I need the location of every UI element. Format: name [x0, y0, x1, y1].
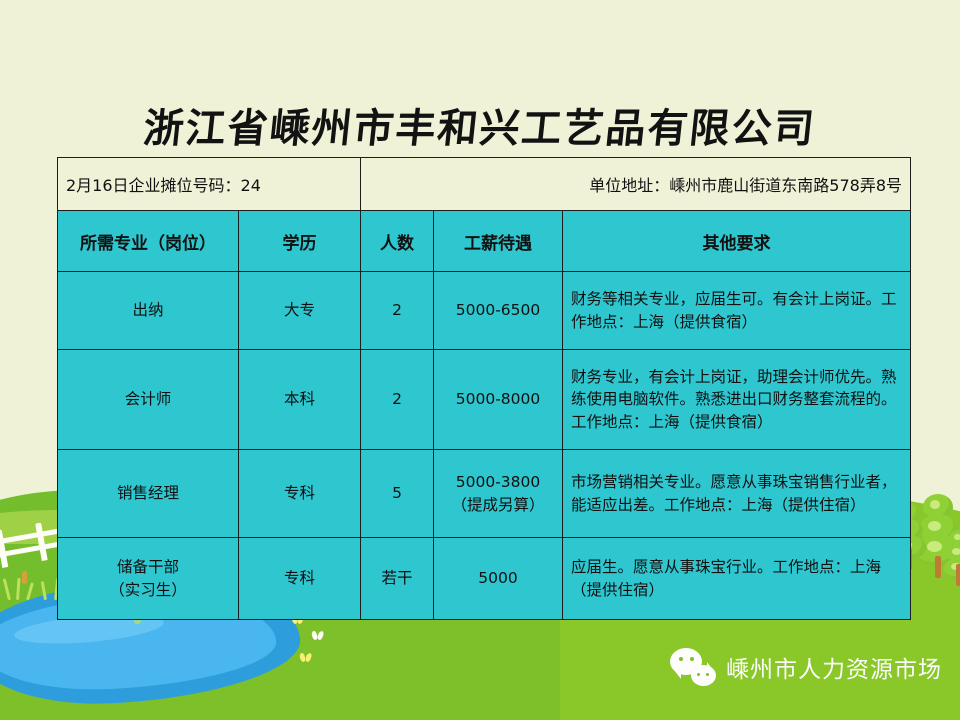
job-listing-table: 2月16日企业摊位号码：24 单位地址：嵊州市鹿山街道东南路578弄8号 所需专… — [57, 157, 911, 620]
page-title: 浙江省嵊州市丰和兴工艺品有限公司 — [0, 96, 960, 154]
cell-other: 财务专业，有会计上岗证，助理会计师优先。熟练使用电脑软件。熟悉进出口财务整套流程… — [563, 350, 911, 450]
cell-major: 储备干部 （实习生） — [58, 538, 239, 620]
company-address-cell: 单位地址：嵊州市鹿山街道东南路578弄8号 — [361, 158, 911, 211]
table-meta-row: 2月16日企业摊位号码：24 单位地址：嵊州市鹿山街道东南路578弄8号 — [58, 158, 911, 211]
header-major: 所需专业（岗位） — [58, 211, 239, 272]
cell-salary: 5000-6500 — [434, 272, 563, 350]
cell-salary: 5000 — [434, 538, 563, 620]
cell-education: 专科 — [239, 450, 361, 538]
table-row: 会计师 本科 2 5000-8000 财务专业，有会计上岗证，助理会计师优先。熟… — [58, 350, 911, 450]
wechat-label: 嵊州市人力资源市场 — [726, 650, 942, 684]
tree-icon — [944, 520, 960, 586]
cell-salary: 5000-3800 （提成另算） — [434, 450, 563, 538]
header-other: 其他要求 — [563, 211, 911, 272]
butterfly-icon — [312, 631, 323, 640]
job-listing-table-container: 2月16日企业摊位号码：24 单位地址：嵊州市鹿山街道东南路578弄8号 所需专… — [57, 157, 910, 620]
table-row: 储备干部 （实习生） 专科 若干 5000 应届生。愿意从事珠宝行业。工作地点：… — [58, 538, 911, 620]
wechat-icon — [670, 648, 716, 686]
cell-other: 财务等相关专业，应届生可。有会计上岗证。工作地点：上海（提供食宿） — [563, 272, 911, 350]
header-salary: 工薪待遇 — [434, 211, 563, 272]
table-header-row: 所需专业（岗位） 学历 人数 工薪待遇 其他要求 — [58, 211, 911, 272]
table-row: 出纳 大专 2 5000-6500 财务等相关专业，应届生可。有会计上岗证。工作… — [58, 272, 911, 350]
header-count: 人数 — [361, 211, 434, 272]
cell-count: 2 — [361, 272, 434, 350]
cell-count: 5 — [361, 450, 434, 538]
cell-major: 会计师 — [58, 350, 239, 450]
cell-education: 本科 — [239, 350, 361, 450]
booth-number-cell: 2月16日企业摊位号码：24 — [58, 158, 361, 211]
cell-other: 应届生。愿意从事珠宝行业。工作地点：上海（提供住宿） — [563, 538, 911, 620]
cell-other: 市场营销相关专业。愿意从事珠宝销售行业者，能适应出差。工作地点：上海（提供住宿） — [563, 450, 911, 538]
cell-education: 专科 — [239, 538, 361, 620]
wechat-badge: 嵊州市人力资源市场 — [670, 648, 942, 686]
cell-education: 大专 — [239, 272, 361, 350]
header-education: 学历 — [239, 211, 361, 272]
cell-salary: 5000-8000 — [434, 350, 563, 450]
butterfly-icon — [300, 653, 311, 662]
cell-count: 2 — [361, 350, 434, 450]
cell-count: 若干 — [361, 538, 434, 620]
cell-major: 出纳 — [58, 272, 239, 350]
table-row: 销售经理 专科 5 5000-3800 （提成另算） 市场营销相关专业。愿意从事… — [58, 450, 911, 538]
cell-major: 销售经理 — [58, 450, 239, 538]
poster-canvas: 浙江省嵊州市丰和兴工艺品有限公司 2月16日企业摊位号码：24 单位地址：嵊州市… — [0, 0, 960, 720]
